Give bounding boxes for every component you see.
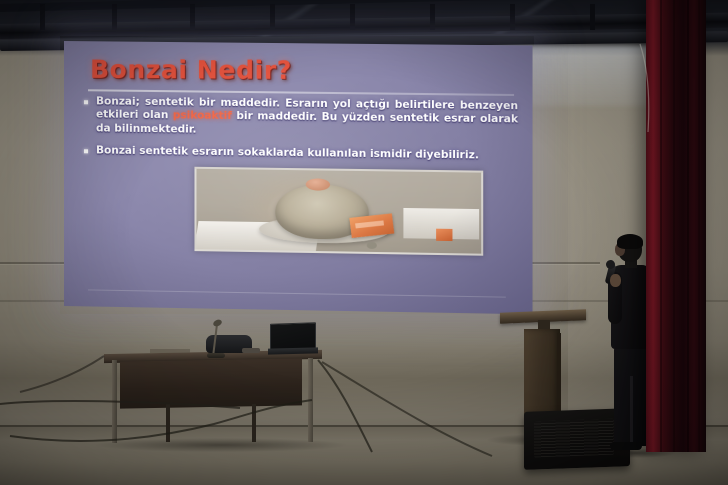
slide-title: Bonzai Nedir?	[90, 55, 292, 85]
desk-microphone	[205, 320, 223, 356]
bullet-marker-icon	[84, 149, 88, 153]
projected-slide: Bonzai Nedir? Bonzai; sentetik bir madde…	[64, 41, 533, 314]
slide-photo	[194, 167, 483, 256]
bullet-item: Bonzai sentetik esrarın sokaklarda kulla…	[82, 144, 518, 163]
desk-remote	[242, 348, 260, 353]
bullet-item: Bonzai; sentetik bir maddedir. Esrarın y…	[82, 95, 518, 141]
desk-papers	[150, 349, 190, 353]
stage-curtain	[646, 0, 706, 452]
laptop	[268, 323, 316, 354]
bullet-highlight: psikoaktif	[173, 110, 232, 123]
presenter-desk	[104, 352, 322, 444]
slide-bullet-list: Bonzai; sentetik bir maddedir. Esrarın y…	[82, 95, 518, 173]
bullet-marker-icon	[84, 100, 88, 104]
presentation-scene: Bonzai Nedir? Bonzai; sentetik bir madde…	[0, 0, 728, 485]
bullet-text-pre: Bonzai sentetik esrarın sokaklarda kulla…	[96, 145, 479, 162]
slide-bottom-rule	[88, 289, 506, 297]
